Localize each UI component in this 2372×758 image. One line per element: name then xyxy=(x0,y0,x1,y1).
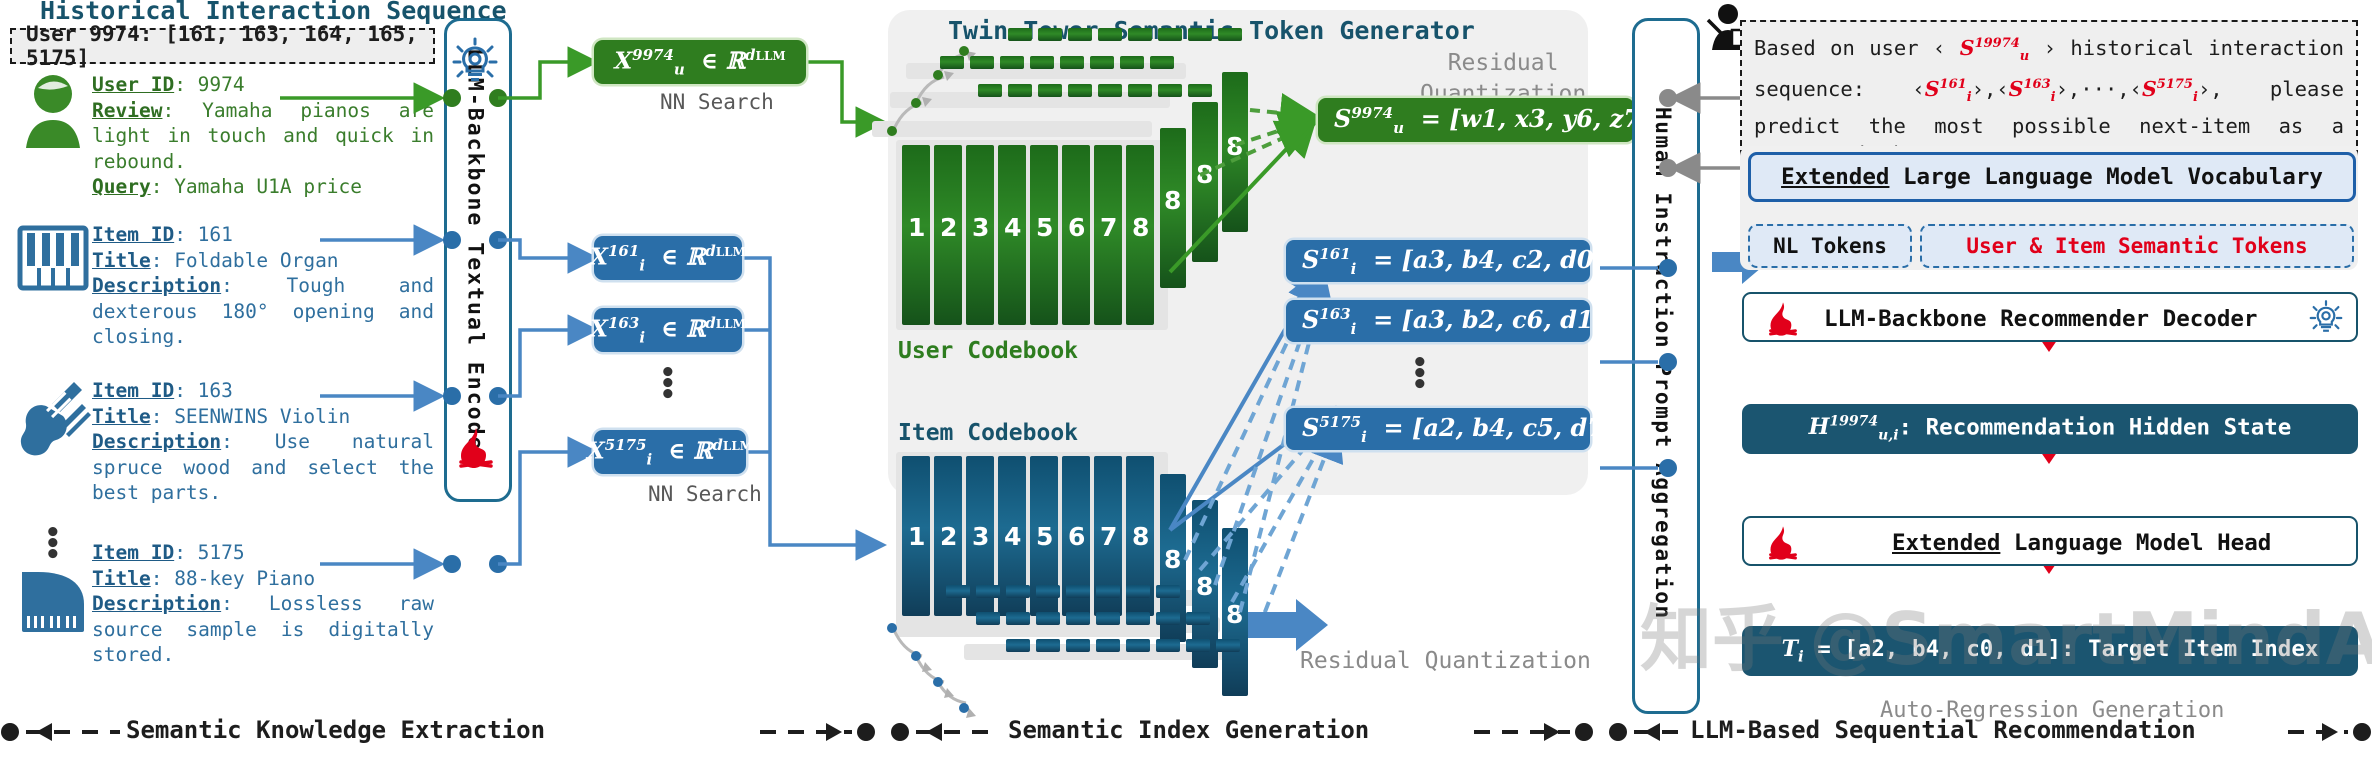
extended-vocabulary-label: Extended Large Language Model Vocabulary xyxy=(1781,164,2323,190)
s163-sup: 163 xyxy=(1319,305,1350,323)
item-5175-embedding-box: X5175i ∈ ℝdLLM xyxy=(594,430,746,474)
item-163-sub: i xyxy=(639,328,645,346)
prompt-seg1: Based on user ‹ xyxy=(1754,36,1945,60)
hidden-state-symbol: H19974u,i xyxy=(1809,414,1899,440)
lm-head-label: Extended Language Model Head xyxy=(1892,530,2271,556)
extended-vocabulary-box: Extended Large Language Model Vocabulary xyxy=(1748,152,2356,202)
lm-head-rest: Language Model Head xyxy=(2000,530,2271,556)
recommender-decoder-box: LLM-Backbone Recommender Decoder xyxy=(1742,292,2358,342)
user-embedding-sub: u xyxy=(674,60,685,78)
item-163-semantic-token-box: S163i = [a3, b2, c6, d1] xyxy=(1286,300,1590,342)
s161-value: [a3, b4, c2, d0] xyxy=(1402,245,1605,274)
prompt-token-i3: S5175i xyxy=(2142,77,2198,101)
su-sub: u xyxy=(1393,118,1404,136)
target-item-text: Ti = [a2, b4, c0, d1]: Target Item Index xyxy=(1782,636,2319,665)
item-5175-sup: 5175 xyxy=(605,436,647,454)
target-symbol: Ti xyxy=(1782,636,1804,662)
item-163-sup: 163 xyxy=(608,314,639,332)
target-equation: = [a2, b4, c0, d1]: Target Item Index xyxy=(1804,636,2319,662)
item-161-embedding-box: X161i ∈ ℝdLLM xyxy=(594,236,742,280)
vocabulary-rest: Large Language Model Vocabulary xyxy=(1889,164,2322,190)
s5175-value: [a2, b4, c5, d7] xyxy=(1412,413,1615,442)
item-5175-semantic-token-box: S5175i = [a2, b4, c5, d7] xyxy=(1286,408,1590,450)
su-sup: 9974 xyxy=(1351,104,1393,122)
item-163-semantic-formula: S163i = [a3, b2, c6, d1] xyxy=(1302,305,1605,338)
vocabulary-extended-word: Extended xyxy=(1781,164,1889,190)
s163-value: [a3, b2, c6, d1] xyxy=(1402,305,1605,334)
nn-search-top-label: NN Search xyxy=(660,90,774,114)
s5175-sup: 5175 xyxy=(1319,413,1361,431)
item-codebook-label: Item Codebook xyxy=(898,420,1078,446)
nn-search-bottom-label: NN Search xyxy=(648,482,762,506)
lightbulb-icon xyxy=(2310,300,2342,340)
footer-right-label: LLM-Based Sequential Recommendation xyxy=(1690,716,2196,744)
item-161-semantic-token-box: S161i = [a3, b4, c2, d0] xyxy=(1286,240,1590,282)
item-163-embedding-formula: X163i ∈ ℝdLLM xyxy=(590,314,746,346)
item-5175-embedding-formula: X5175i ∈ ℝdLLM xyxy=(587,436,753,468)
footer-left-label: Semantic Knowledge Extraction xyxy=(126,716,545,744)
residual-line1: Residual xyxy=(1420,48,1586,79)
nl-tokens-label: NL Tokens xyxy=(1773,234,1887,258)
user-semantic-token-box: S9974u = [w1, x3, y6, z7] xyxy=(1318,98,1634,142)
embedding-ellipsis: ••• xyxy=(660,368,676,401)
item-161-sup: 161 xyxy=(608,242,639,260)
flame-icon xyxy=(1768,300,1798,342)
prompt-token-i2: S163i xyxy=(2009,77,2056,101)
prompt-token-i1: S161i xyxy=(1925,77,1972,101)
s161-sub: i xyxy=(1351,259,1357,277)
user-codebook-label: User Codebook xyxy=(898,338,1078,364)
prompt-token-user: S19974u xyxy=(1960,36,2030,60)
recommender-decoder-label: LLM-Backbone Recommender Decoder xyxy=(1824,306,2257,332)
hidden-state-label: : Recommendation Hidden State xyxy=(1899,414,2292,440)
target-item-index-box: Ti = [a2, b4, c0, d1]: Target Item Index xyxy=(1742,626,2358,676)
footer-middle-label: Semantic Index Generation xyxy=(1008,716,1369,744)
item-163-embedding-box: X163i ∈ ℝdLLM xyxy=(594,308,742,352)
prompt-seg3: ›,‹ xyxy=(1972,77,2009,101)
user-embedding-formula: X9974u ∈ ℝdLLM xyxy=(614,46,785,78)
flame-icon xyxy=(1768,524,1798,566)
item-5175-sub: i xyxy=(647,450,653,468)
semantic-tokens-label: User & Item Semantic Tokens xyxy=(1966,234,2307,258)
lm-head-box: Extended Language Model Head xyxy=(1742,516,2358,566)
lm-head-extended-word: Extended xyxy=(1892,530,2000,556)
s5175-sub: i xyxy=(1361,427,1367,445)
semantic-token-ellipsis: ••• xyxy=(1412,358,1428,391)
hidden-state-box: H19974u,i: Recommendation Hidden State xyxy=(1742,404,2358,454)
prompt-seg4: ›,···,‹ xyxy=(2056,77,2142,101)
item-5175-arrow xyxy=(1248,598,1348,658)
item-161-sub: i xyxy=(639,256,645,274)
hidden-state-text: H19974u,i: Recommendation Hidden State xyxy=(1809,414,2292,444)
user-embedding-sup: 9974 xyxy=(632,46,674,64)
s161-sup: 161 xyxy=(1319,245,1350,263)
semantic-tokens-box: User & Item Semantic Tokens xyxy=(1920,224,2354,268)
item-161-embedding-formula: X161i ∈ ℝdLLM xyxy=(590,242,746,274)
nl-tokens-box: NL Tokens xyxy=(1748,224,1912,268)
user-embedding-box: X9974u ∈ ℝdLLM xyxy=(594,40,806,84)
item-161-semantic-formula: S161i = [a3, b4, c2, d0] xyxy=(1302,245,1605,278)
item-5175-semantic-formula: S5175i = [a2, b4, c5, d7] xyxy=(1302,413,1615,446)
s163-sub: i xyxy=(1351,319,1357,337)
